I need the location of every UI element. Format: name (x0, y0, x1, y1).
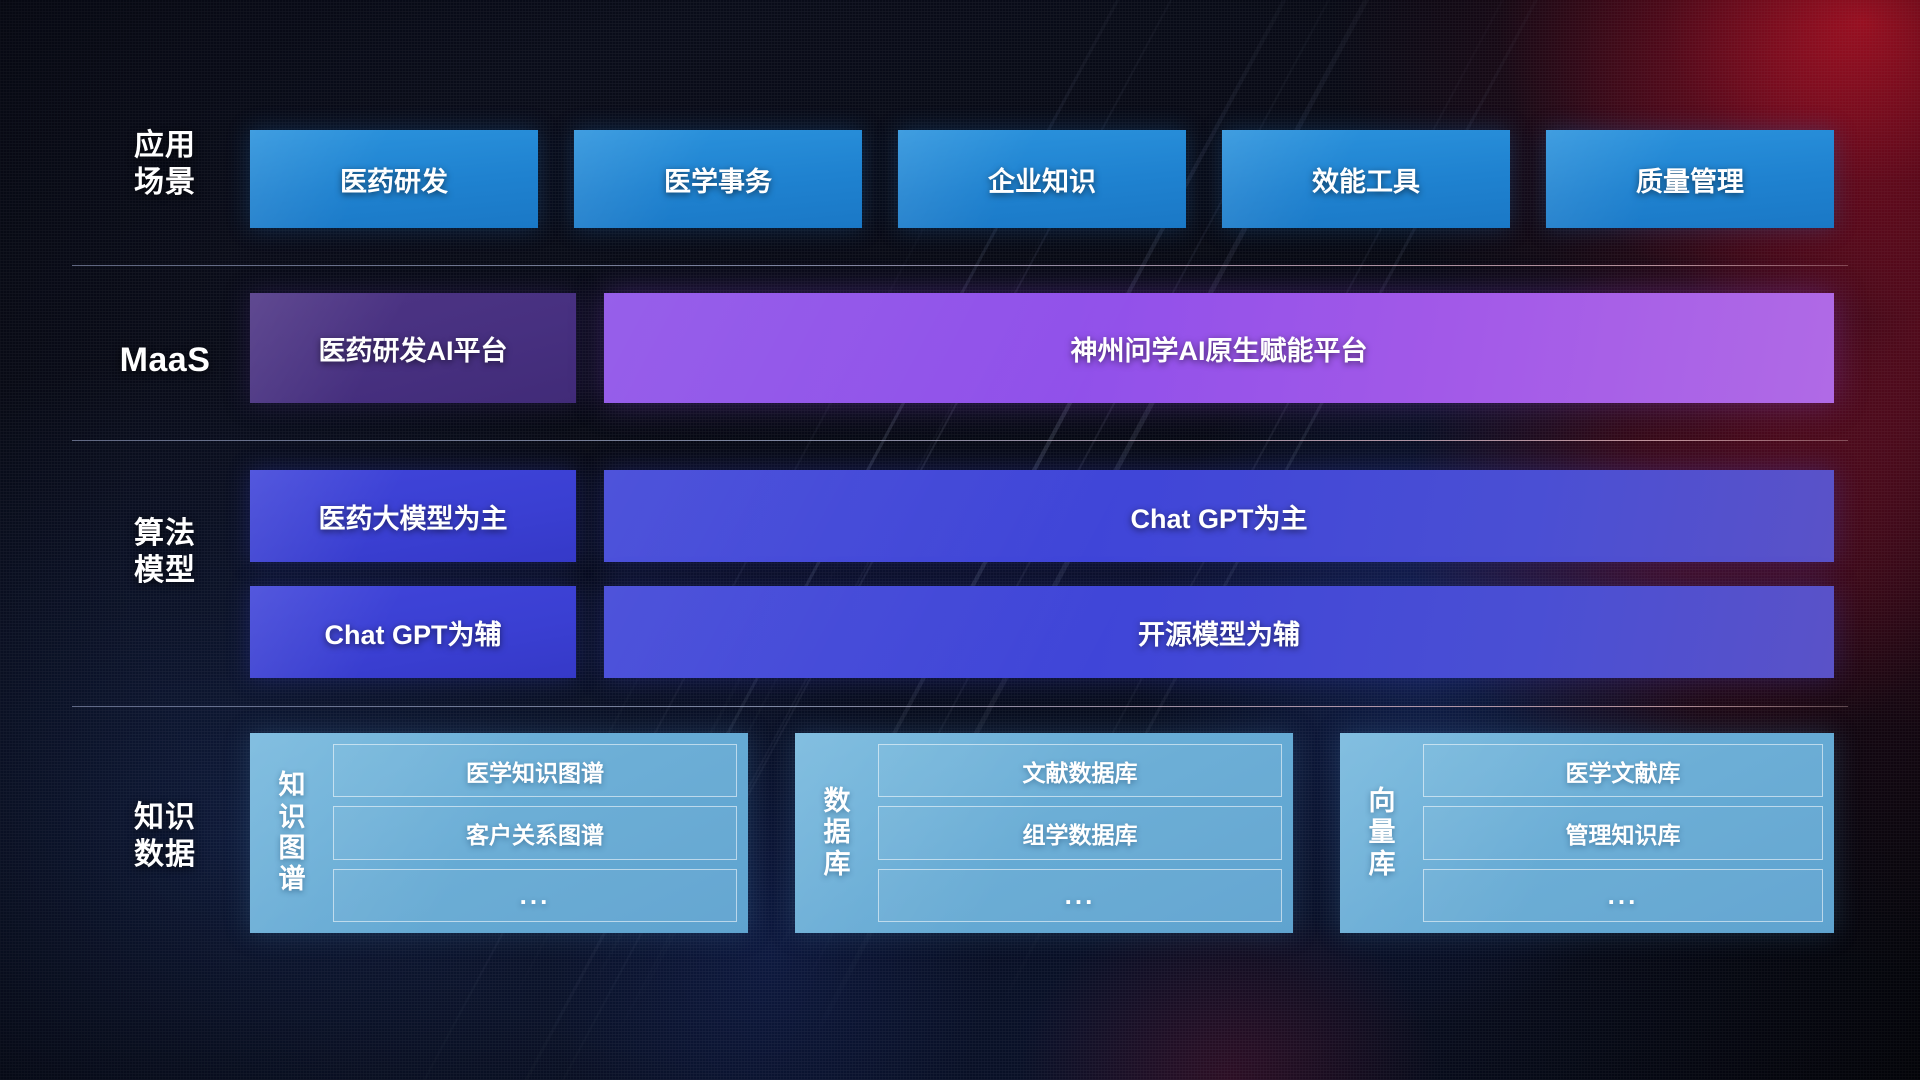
row-label-knowledge-data: 知识 数据 (80, 800, 250, 873)
row-label-line: MaaS (80, 340, 250, 381)
app-card-2[interactable]: 企业知识 (898, 130, 1186, 228)
side-label-char: 量 (1369, 817, 1396, 848)
knowledge-panel-vector-store[interactable]: 向 量 库 医学文献库 管理知识库 ... (1340, 733, 1834, 933)
row-label-line: 场景 (80, 165, 250, 202)
knowledge-item[interactable]: 管理知识库 (1423, 806, 1823, 859)
row-label-maas: MaaS (80, 340, 250, 381)
row-label-line: 应用 (80, 128, 250, 165)
algo-card-chatgpt-primary[interactable]: Chat GPT为主 (604, 470, 1834, 562)
knowledge-panel-items: 文献数据库 组学数据库 ... (868, 744, 1282, 922)
app-card-label: 效能工具 (1312, 160, 1420, 199)
app-card-3[interactable]: 效能工具 (1222, 130, 1510, 228)
side-label-char: 识 (279, 802, 306, 833)
maas-card-shenzhou-wenxue-platform[interactable]: 神州问学AI原生赋能平台 (604, 293, 1834, 403)
row-label-line: 数据 (80, 837, 250, 874)
row-label-line: 算法 (80, 516, 250, 553)
side-label-char: 数 (824, 786, 851, 817)
algo-card-opensource-secondary[interactable]: 开源模型为辅 (604, 586, 1834, 678)
knowledge-panel-side-label: 向 量 库 (1351, 744, 1413, 922)
maas-card-medical-ai-platform[interactable]: 医药研发AI平台 (250, 293, 576, 403)
algo-card-medical-model-primary[interactable]: 医药大模型为主 (250, 470, 576, 562)
app-card-1[interactable]: 医学事务 (574, 130, 862, 228)
diagram-canvas: 应用 场景 医药研发 医学事务 企业知识 效能工具 质量管理 MaaS (0, 0, 1920, 1080)
maas-card-label: 神州问学AI原生赋能平台 (1071, 329, 1368, 368)
knowledge-item[interactable]: 客户关系图谱 (333, 806, 737, 859)
maas-card-label: 医药研发AI平台 (319, 329, 508, 368)
knowledge-panel-items: 医学文献库 管理知识库 ... (1413, 744, 1823, 922)
side-label-char: 图 (279, 833, 306, 864)
side-label-char: 据 (824, 817, 851, 848)
algo-card-label: Chat GPT为辅 (324, 613, 501, 652)
knowledge-panel-side-label: 知 识 图 谱 (261, 744, 323, 922)
app-card-label: 质量管理 (1636, 160, 1744, 199)
divider-1 (72, 265, 1848, 266)
side-label-char: 向 (1369, 786, 1396, 817)
knowledge-item-more[interactable]: ... (333, 869, 737, 922)
knowledge-item-more[interactable]: ... (1423, 869, 1823, 922)
knowledge-panel-database[interactable]: 数 据 库 文献数据库 组学数据库 ... (795, 733, 1293, 933)
knowledge-item[interactable]: 医学知识图谱 (333, 744, 737, 797)
knowledge-item[interactable]: 组学数据库 (878, 806, 1282, 859)
row-label-line: 模型 (80, 553, 250, 590)
app-card-label: 医学事务 (664, 160, 772, 199)
algo-card-label: Chat GPT为主 (1130, 497, 1307, 536)
app-card-label: 医药研发 (340, 160, 448, 199)
algo-card-label: 医药大模型为主 (319, 497, 508, 536)
algo-card-chatgpt-secondary[interactable]: Chat GPT为辅 (250, 586, 576, 678)
divider-3 (72, 706, 1848, 707)
side-label-char: 谱 (279, 864, 306, 895)
algo-card-label: 开源模型为辅 (1138, 613, 1300, 652)
knowledge-item[interactable]: 文献数据库 (878, 744, 1282, 797)
app-card-label: 企业知识 (988, 160, 1096, 199)
knowledge-panel-items: 医学知识图谱 客户关系图谱 ... (323, 744, 737, 922)
row-label-application-scenarios: 应用 场景 (80, 128, 250, 201)
side-label-char: 库 (1369, 849, 1396, 880)
knowledge-item[interactable]: 医学文献库 (1423, 744, 1823, 797)
knowledge-panel-side-label: 数 据 库 (806, 744, 868, 922)
row-label-line: 知识 (80, 800, 250, 837)
knowledge-panel-knowledge-graph[interactable]: 知 识 图 谱 医学知识图谱 客户关系图谱 ... (250, 733, 748, 933)
side-label-char: 知 (279, 770, 306, 801)
app-card-0[interactable]: 医药研发 (250, 130, 538, 228)
knowledge-item-more[interactable]: ... (878, 869, 1282, 922)
row-label-algorithm-models: 算法 模型 (80, 516, 250, 589)
divider-2 (72, 440, 1848, 441)
app-card-4[interactable]: 质量管理 (1546, 130, 1834, 228)
side-label-char: 库 (824, 849, 851, 880)
